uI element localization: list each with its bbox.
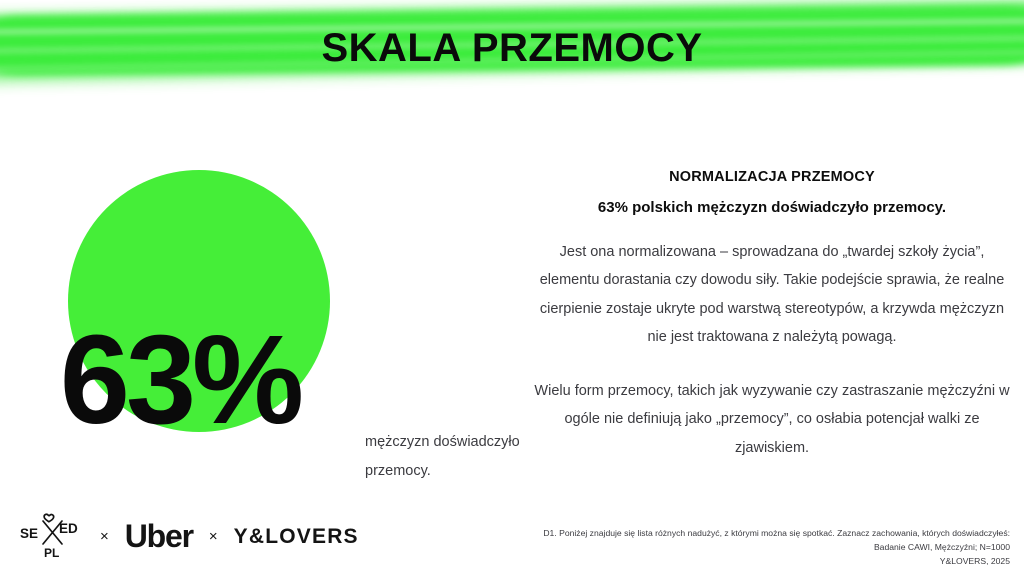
partner-logo-bar: SE ED PL × Uber × Y&LOVERS [18, 511, 359, 561]
logo-sexed-pl: PL [44, 546, 59, 560]
logo-sexed-ed: ED [59, 521, 78, 536]
logo-separator-icon: × [209, 529, 218, 544]
section-heading: NORMALIZACJA PRZEMOCY [520, 169, 1024, 185]
section-subheading: 63% polskich mężczyzn doświadczyło przem… [520, 199, 1024, 216]
body-paragraph-2: Wielu form przemocy, takich jak wyzywani… [534, 377, 1010, 462]
logo-sexed-pl: SE ED PL [18, 512, 84, 560]
body-paragraph-1: Jest ona normalizowana – sprowadzana do … [534, 238, 1010, 351]
title-banner: SKALA PRZEMOCY [0, 0, 1024, 110]
stat-value: 63% [0, 317, 360, 443]
heart-icon [44, 514, 54, 521]
footnote-source: Y&LOVERS, 2025 [390, 555, 1010, 569]
slide-title: SKALA PRZEMOCY [0, 26, 1024, 71]
content-column: NORMALIZACJA PRZEMOCY 63% polskich mężcz… [520, 160, 1024, 462]
logo-ylovers: Y&LOVERS [234, 526, 359, 547]
logo-uber: Uber [125, 520, 193, 552]
footnote-question: D1. Poniżej znajduje się lista różnych n… [390, 527, 1010, 541]
statistic-block: 63% mężczyzn doświadczyło przemocy. [0, 160, 545, 450]
logo-sexed-se: SE [20, 526, 38, 541]
stat-caption: mężczyzn doświadczyło przemocy. [365, 428, 540, 486]
logo-separator-icon: × [100, 529, 109, 544]
footnote: D1. Poniżej znajduje się lista różnych n… [390, 527, 1010, 569]
footnote-methodology: Badanie CAWI, Mężczyźni; N=1000 [390, 541, 1010, 555]
